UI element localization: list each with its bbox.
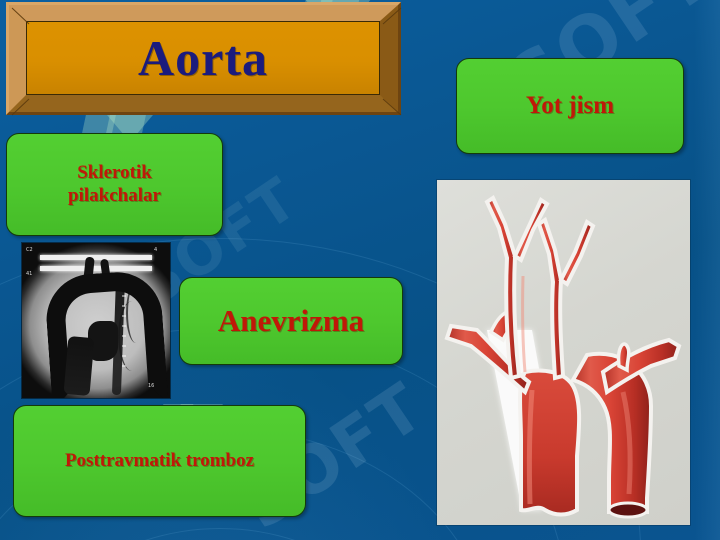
callout-label: Yot jism (518, 91, 622, 121)
aortic-lumen-cut (609, 503, 647, 517)
xray-marker-bottom-right: 16 (148, 383, 154, 389)
callout-posttravmatik-tromboz[interactable]: Posttravmatik tromboz (13, 405, 306, 517)
callout-label: Sklerotikpilakchalar (52, 162, 177, 207)
xray-marker-top-right: 4 (154, 247, 157, 253)
title-plate: Aorta (26, 21, 380, 95)
callout-yot-jism[interactable]: Yot jism (456, 58, 684, 154)
aortic-arch-illustration (437, 180, 690, 525)
slide-canvas: SOFT SOFT SOFT SOFT (0, 0, 720, 540)
title-frame: Aorta (6, 2, 401, 115)
callout-anevrizma[interactable]: Anevrizma (179, 277, 403, 365)
right-vertebral-branch (619, 344, 629, 370)
callout-sklerotik-pilakchalar[interactable]: Sklerotikpilakchalar (6, 133, 223, 236)
xray-marker-mid-left: 41 (26, 271, 32, 277)
aortic-angiogram-image: C2 4 41 16 (22, 243, 170, 398)
callout-label: Anevrizma (210, 303, 372, 340)
page-title: Aorta (138, 33, 268, 83)
brachiocephalic-bifurcation (561, 222, 593, 284)
xray-marker-top-left: C2 (26, 247, 33, 253)
brachiocephalic-trunk (539, 220, 563, 378)
callout-label: Posttravmatik tromboz (57, 450, 262, 472)
